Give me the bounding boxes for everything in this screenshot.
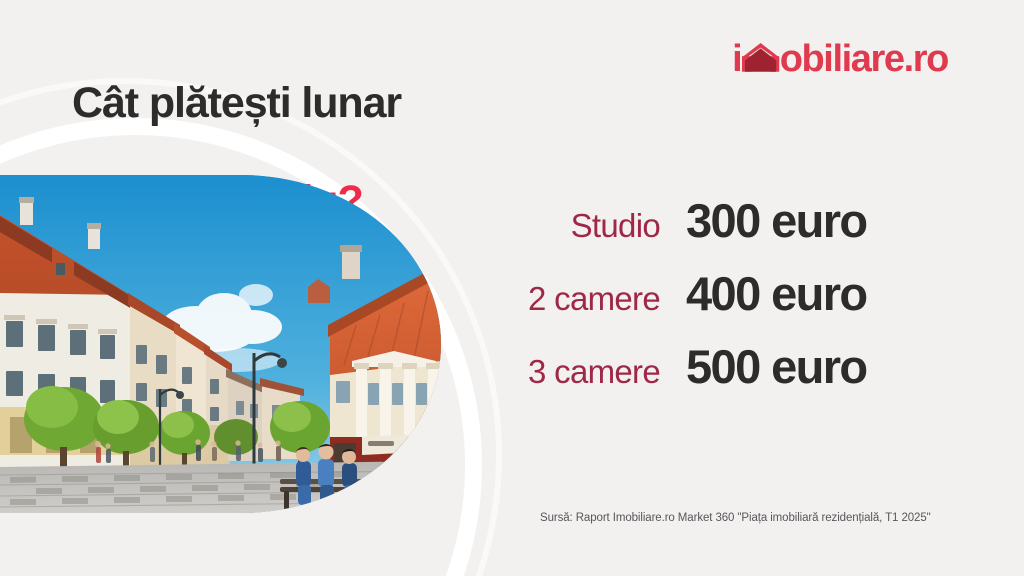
imobiliare-logo[interactable]: i obiliare.ro [732, 40, 948, 78]
table-row: 3 camere 500 euro [470, 339, 990, 412]
row-label-2-camere: 2 camere [470, 280, 686, 318]
row-value-2-camere: 400 euro [686, 266, 867, 321]
infographic-canvas: Cât plătești lunar chirie în Sibiu? i ob… [0, 0, 1024, 576]
source-note: Sursă: Raport Imobiliare.ro Market 360 "… [540, 512, 931, 524]
house-m-icon [742, 50, 779, 71]
sibiu-square-photo [0, 175, 441, 513]
table-row: 2 camere 400 euro [470, 266, 990, 339]
rent-price-table: Studio 300 euro 2 camere 400 euro 3 came… [470, 193, 990, 412]
table-row: Studio 300 euro [470, 193, 990, 266]
logo-suffix: obiliare.ro [780, 40, 948, 78]
headline-line-1: Cât plătești lunar [72, 79, 401, 127]
row-label-studio: Studio [470, 207, 686, 245]
row-value-3-camere: 500 euro [686, 339, 867, 394]
logo-prefix: i [732, 40, 741, 78]
row-label-3-camere: 3 camere [470, 353, 686, 391]
row-value-studio: 300 euro [686, 193, 867, 248]
